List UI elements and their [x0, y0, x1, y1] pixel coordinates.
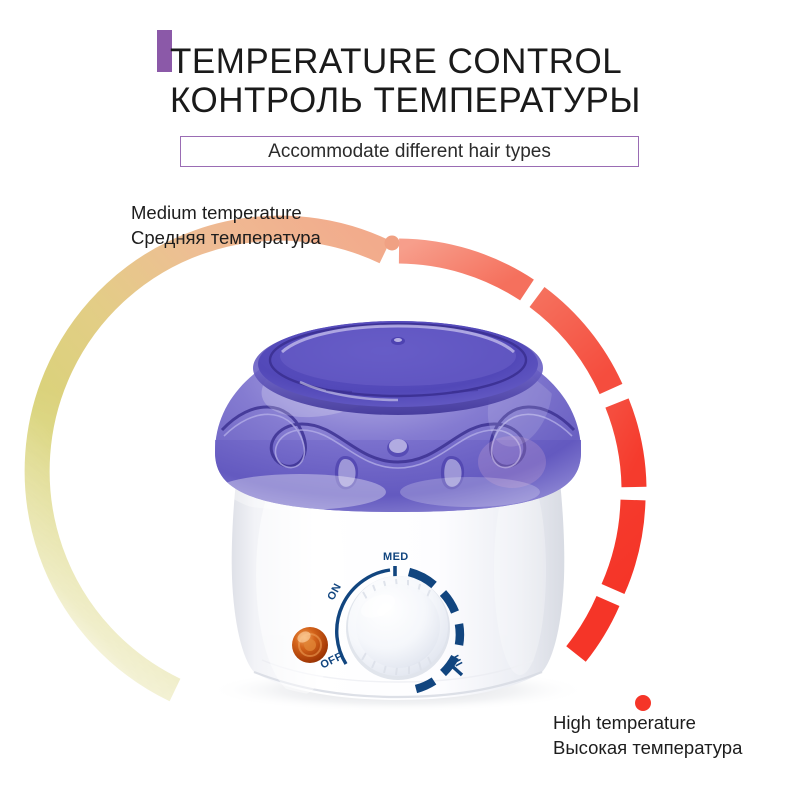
product-image: MED ON OFF HI [0, 0, 800, 800]
callout-medium-ru: Средняя температура [131, 225, 321, 250]
infographic-page: TEMPERATURE CONTROL КОНТРОЛЬ ТЕМПЕРАТУРЫ… [0, 0, 800, 800]
control-knob[interactable] [346, 576, 450, 680]
knob-label-med: MED [383, 551, 409, 563]
callout-high-en: High temperature [553, 710, 742, 735]
callout-high-temperature: High temperature Высокая температура [553, 710, 742, 760]
callout-medium-en: Medium temperature [131, 200, 321, 225]
product-lid [214, 321, 581, 512]
wax-warmer-illustration [0, 0, 800, 800]
callout-high-ru: Высокая температура [553, 735, 742, 760]
callout-medium-temperature: Medium temperature Средняя температура [131, 200, 321, 250]
